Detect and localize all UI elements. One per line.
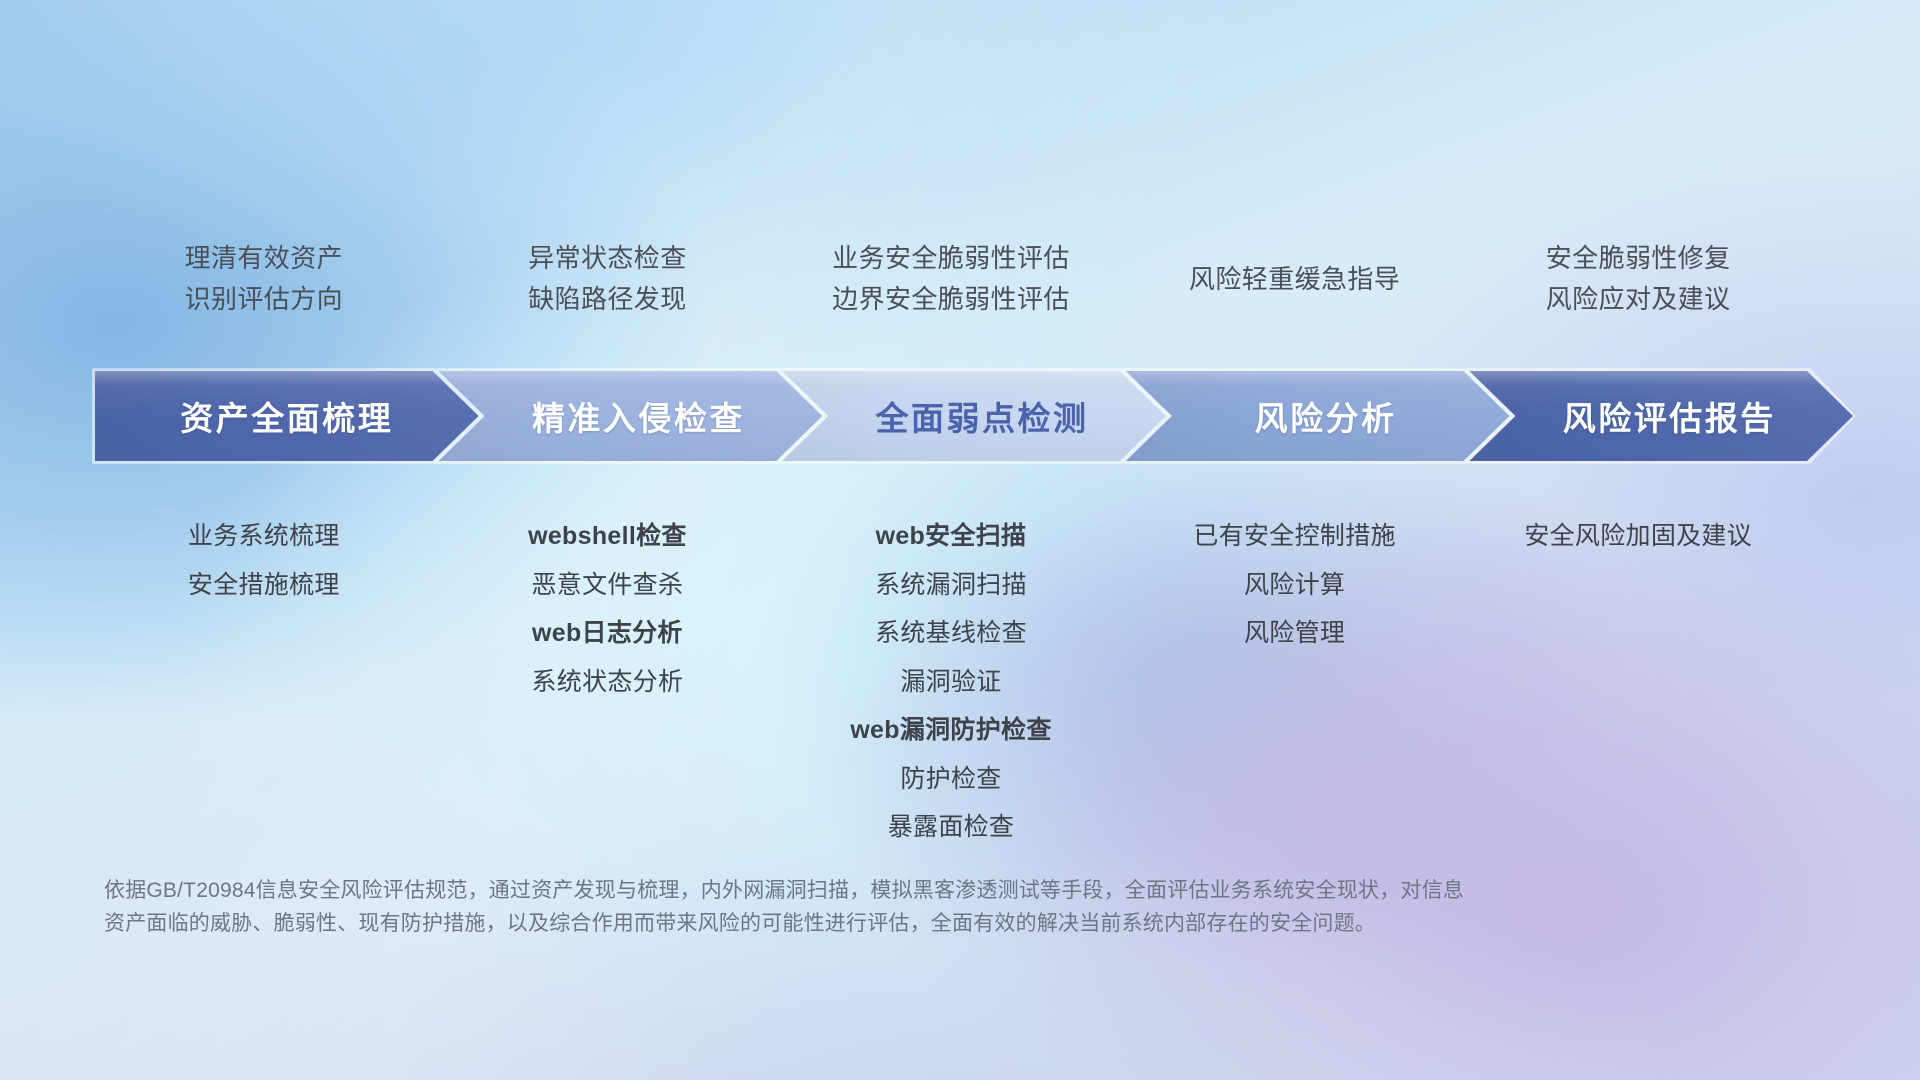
stage-bottom-item: 业务系统梳理 bbox=[92, 512, 436, 561]
process-step-risk-report[interactable]: 风险评估报告 bbox=[1466, 368, 1856, 464]
stage-bottom-list-risk-analysis: 已有安全控制措施风险计算风险管理 bbox=[1123, 512, 1467, 658]
stage-bottom-item: 暴露面检查 bbox=[779, 803, 1123, 852]
stage-bottom-item: 漏洞验证 bbox=[779, 658, 1123, 707]
stage-bottom-item: 风险计算 bbox=[1123, 561, 1467, 610]
stage-top-item: 缺陷路径发现 bbox=[436, 279, 780, 320]
stage-bottom-item: webshell检查 bbox=[436, 512, 780, 561]
process-step-asset-inventory[interactable]: 资产全面梳理 bbox=[92, 368, 482, 464]
stage-bottom-item: web日志分析 bbox=[436, 609, 780, 658]
process-step-label-asset-inventory: 资产全面梳理 bbox=[180, 392, 393, 440]
process-step-intrusion-check[interactable]: 精准入侵检查 bbox=[436, 368, 826, 464]
stage-bottom-list-asset-inventory: 业务系统梳理安全措施梳理 bbox=[92, 512, 436, 609]
footer-note-line-1: 依据GB/T20984信息安全风险评估规范，通过资产发现与梳理，内外网漏洞扫描，… bbox=[104, 874, 1744, 907]
process-chevron-band: 资产全面梳理精准入侵检查全面弱点检测风险分析风险评估报告 bbox=[0, 368, 1920, 464]
stage-bottom-item: 安全风险加固及建议 bbox=[1466, 512, 1810, 561]
stage-bottom-item: 风险管理 bbox=[1123, 609, 1467, 658]
stage-top-list-risk-analysis: 风险轻重缓急指导 bbox=[1123, 259, 1467, 300]
stage-bottom-item: 防护检查 bbox=[779, 755, 1123, 804]
stage-bottom-item: 系统基线检查 bbox=[779, 609, 1123, 658]
stage-bottom-item: 系统状态分析 bbox=[436, 658, 780, 707]
stage-bottom-item: 系统漏洞扫描 bbox=[779, 561, 1123, 610]
footer-note: 依据GB/T20984信息安全风险评估规范，通过资产发现与梳理，内外网漏洞扫描，… bbox=[104, 874, 1744, 940]
stage-top-item: 风险应对及建议 bbox=[1466, 279, 1810, 320]
stage-bottom-list-weakness-detection: web安全扫描系统漏洞扫描系统基线检查漏洞验证web漏洞防护检查防护检查暴露面检… bbox=[779, 512, 1123, 852]
stage-top-item: 异常状态检查 bbox=[436, 238, 780, 279]
process-step-weakness-detection[interactable]: 全面弱点检测 bbox=[779, 368, 1169, 464]
process-step-risk-analysis[interactable]: 风险分析 bbox=[1123, 368, 1513, 464]
stage-bottom-list-risk-report: 安全风险加固及建议 bbox=[1466, 512, 1810, 561]
stage-top-list-risk-report: 安全脆弱性修复风险应对及建议 bbox=[1466, 238, 1810, 320]
process-step-label-weakness-detection: 全面弱点检测 bbox=[875, 392, 1088, 440]
stage-top-list-intrusion-check: 异常状态检查缺陷路径发现 bbox=[436, 238, 780, 320]
stage-top-list-asset-inventory: 理清有效资产识别评估方向 bbox=[92, 238, 436, 320]
stage-top-item: 识别评估方向 bbox=[92, 279, 436, 320]
stage-top-list-weakness-detection: 业务安全脆弱性评估边界安全脆弱性评估 bbox=[779, 238, 1123, 320]
stage-top-item: 风险轻重缓急指导 bbox=[1123, 259, 1467, 300]
stage-top-item: 理清有效资产 bbox=[92, 238, 436, 279]
stage-bottom-item: 恶意文件查杀 bbox=[436, 561, 780, 610]
stage-top-item: 边界安全脆弱性评估 bbox=[779, 279, 1123, 320]
stage-bottom-item: 已有安全控制措施 bbox=[1123, 512, 1467, 561]
footer-note-line-2: 资产面临的威胁、脆弱性、现有防护措施，以及综合作用而带来风险的可能性进行评估，全… bbox=[104, 907, 1744, 940]
stage-top-item: 安全脆弱性修复 bbox=[1466, 238, 1810, 279]
stage-bottom-item: 安全措施梳理 bbox=[92, 561, 436, 610]
process-step-label-risk-analysis: 风险分析 bbox=[1255, 392, 1397, 440]
stage-bottom-item: web漏洞防护检查 bbox=[779, 706, 1123, 755]
slide-canvas: 资产全面梳理精准入侵检查全面弱点检测风险分析风险评估报告 理清有效资产识别评估方… bbox=[0, 0, 1920, 1080]
process-step-label-risk-report: 风险评估报告 bbox=[1563, 392, 1776, 440]
stage-bottom-item: web安全扫描 bbox=[779, 512, 1123, 561]
process-step-label-intrusion-check: 精准入侵检查 bbox=[532, 392, 745, 440]
stage-bottom-list-intrusion-check: webshell检查恶意文件查杀web日志分析系统状态分析 bbox=[436, 512, 780, 706]
stage-top-item: 业务安全脆弱性评估 bbox=[779, 238, 1123, 279]
